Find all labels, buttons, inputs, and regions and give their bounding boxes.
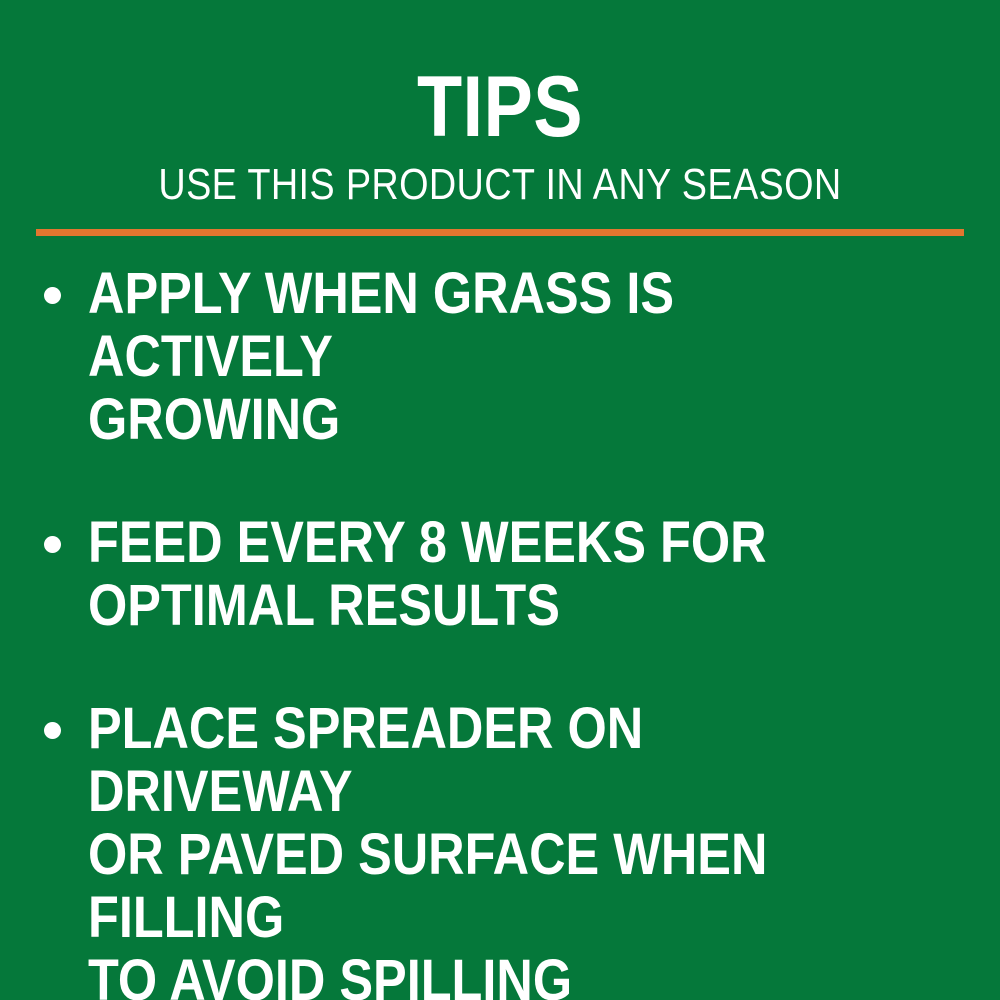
header-divider <box>36 229 964 236</box>
list-item: APPLY WHEN GRASS IS ACTIVELY GROWING <box>0 262 1000 451</box>
panel-header: TIPS USE THIS PRODUCT IN ANY SEASON <box>0 0 1000 208</box>
tips-panel: TIPS USE THIS PRODUCT IN ANY SEASON APPL… <box>0 0 1000 1000</box>
bullet-dot-icon <box>44 287 61 304</box>
tips-list: APPLY WHEN GRASS IS ACTIVELY GROWING FEE… <box>0 262 1000 1000</box>
page-title: TIPS <box>70 0 930 150</box>
tip-text: PLACE SPREADER ON DRIVEWAY OR PAVED SURF… <box>88 697 864 1000</box>
bullet-dot-icon <box>44 722 61 739</box>
bullet-dot-icon <box>44 536 61 553</box>
page-subtitle: USE THIS PRODUCT IN ANY SEASON <box>70 150 930 208</box>
list-item: FEED EVERY 8 WEEKS FOR OPTIMAL RESULTS <box>0 511 1000 637</box>
tip-text: FEED EVERY 8 WEEKS FOR OPTIMAL RESULTS <box>88 511 864 637</box>
list-item: PLACE SPREADER ON DRIVEWAY OR PAVED SURF… <box>0 697 1000 1000</box>
tip-text: APPLY WHEN GRASS IS ACTIVELY GROWING <box>88 262 864 451</box>
